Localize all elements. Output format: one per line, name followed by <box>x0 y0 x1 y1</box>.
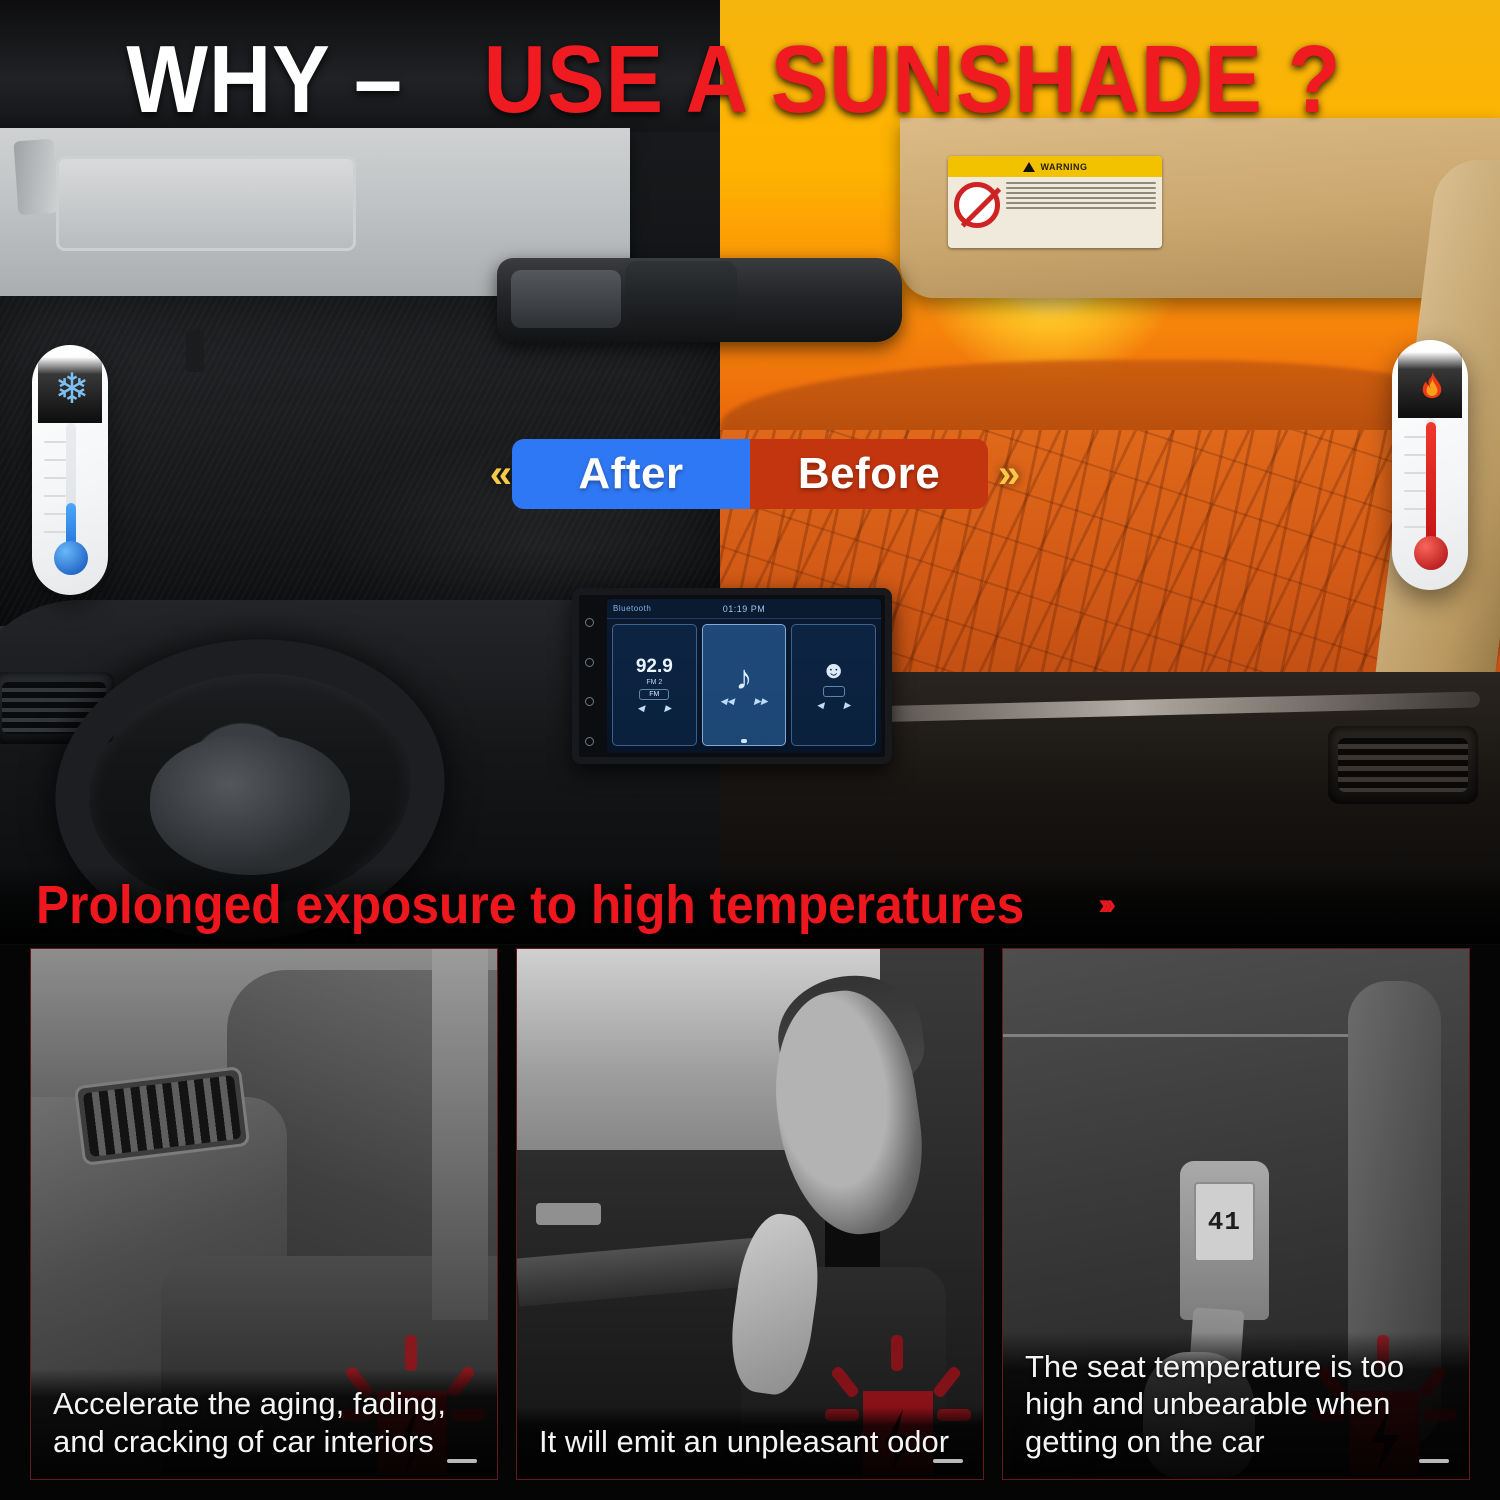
title-white-part: WHY – <box>126 32 403 128</box>
rearview-mirror <box>497 258 902 342</box>
steering-wheel-hub <box>150 735 350 875</box>
rearview-mirror-glass <box>511 270 621 328</box>
clock: 01:19 PM <box>723 604 766 614</box>
radio-prev-icon[interactable]: ◀ <box>637 703 644 714</box>
person-icon: ☻ <box>821 659 846 683</box>
panel-interior-aging: Accelerate the aging, fading, and cracki… <box>30 948 498 1480</box>
snowflake-icon: ❄ <box>38 357 102 423</box>
caption-dash <box>447 1459 477 1463</box>
radio-band: FM 2 <box>646 679 662 686</box>
sun-visor-tan: WARNING <box>900 118 1500 298</box>
phone-chip[interactable] <box>823 686 845 697</box>
power-button-icon[interactable] <box>585 618 594 627</box>
radio-preset-chip[interactable]: FM <box>639 689 669 700</box>
music-note-icon: ♪ <box>736 663 753 694</box>
subheadline: Prolonged exposure to high temperatures … <box>0 866 1500 944</box>
infotainment-cards: 92.9 FM 2 FM ◀ ▶ ♪ ◀◀ ▶▶ <box>607 619 881 751</box>
air-vent-right <box>1328 726 1478 804</box>
radio-frequency: 92.9 <box>636 657 673 676</box>
settings-button-icon[interactable] <box>585 737 594 746</box>
media-forward-icon[interactable]: ▶▶ <box>754 696 768 707</box>
warning-triangle-icon <box>1023 162 1035 172</box>
title-red-part: USE A SUNSHADE ? <box>484 32 1342 128</box>
after-badge[interactable]: After <box>512 439 750 509</box>
radio-card[interactable]: 92.9 FM 2 FM ◀ ▶ <box>612 624 697 746</box>
thermometer-bulb-hot <box>1414 536 1448 570</box>
panel-caption: The seat temperature is too high and unb… <box>1003 1332 1469 1479</box>
benefit-panels: Accelerate the aging, fading, and cracki… <box>0 948 1500 1500</box>
warning-body <box>948 177 1162 233</box>
warning-band: WARNING <box>948 156 1162 177</box>
caption-text: The seat temperature is too high and unb… <box>1025 1348 1451 1461</box>
panel-seat-temperature: 41 The seat temperature is too high and … <box>1002 948 1470 1480</box>
phone-next-icon[interactable]: ▶ <box>844 700 851 711</box>
warning-title: WARNING <box>1041 162 1088 172</box>
thermometer-bulb-cold <box>54 541 88 575</box>
volume-button-icon[interactable] <box>585 697 594 706</box>
home-button-icon[interactable] <box>585 658 594 667</box>
visor-mirror <box>56 156 356 251</box>
caption-text: Accelerate the aging, fading, and cracki… <box>53 1385 479 1461</box>
visor-clip <box>13 139 58 216</box>
rearview-mirror-stem <box>186 330 204 372</box>
caption-dash <box>933 1459 963 1463</box>
phone-prev-icon[interactable]: ◀ <box>817 700 824 711</box>
panel-unpleasant-odor: It will emit an unpleasant odor <box>516 948 984 1480</box>
before-after-hero: WARNING <box>0 0 1500 945</box>
phone-controls[interactable]: ◀ ▶ <box>817 700 851 711</box>
flame-icon <box>1398 352 1462 418</box>
subheadline-arrows-icon: ››› <box>1098 888 1110 922</box>
no-child-seat-icon <box>954 182 1000 228</box>
thermometer-lcd: 41 <box>1194 1182 1255 1262</box>
caption-text: It will emit an unpleasant odor <box>539 1423 965 1461</box>
bluetooth-status: Bluetooth <box>613 604 651 613</box>
infotainment-status-bar: Bluetooth 01:19 PM <box>607 599 881 619</box>
right-chevron-icon: » <box>998 454 1010 494</box>
infotainment-screen[interactable]: Bluetooth 01:19 PM 92.9 FM 2 FM ◀ ▶ ♪ ◀◀ <box>572 588 892 764</box>
subheadline-text: Prolonged exposure to high temperatures <box>36 878 1024 932</box>
panel-caption: It will emit an unpleasant odor <box>517 1407 983 1479</box>
media-card[interactable]: ♪ ◀◀ ▶▶ <box>702 624 787 746</box>
warning-text-lines <box>1006 182 1156 228</box>
radio-next-icon[interactable]: ▶ <box>664 703 671 714</box>
page-indicator-dot <box>741 739 747 743</box>
panel-caption: Accelerate the aging, fading, and cracki… <box>31 1369 497 1479</box>
phone-card[interactable]: ☻ ◀ ▶ <box>791 624 876 746</box>
media-rewind-icon[interactable]: ◀◀ <box>720 696 734 707</box>
caption-dash <box>1419 1459 1449 1463</box>
visor-warning-label: WARNING <box>948 156 1162 248</box>
infotainment-display[interactable]: Bluetooth 01:19 PM 92.9 FM 2 FM ◀ ▶ ♪ ◀◀ <box>607 599 881 753</box>
before-badge[interactable]: Before <box>750 439 988 509</box>
media-controls[interactable]: ◀◀ ▶▶ <box>720 696 768 707</box>
before-after-badges: « After Before » <box>0 432 1500 516</box>
thermometer-reading: 41 <box>1208 1207 1241 1237</box>
rearview-camera-pod <box>625 261 737 323</box>
page-title: WHY – USE A SUNSHADE ? <box>0 28 1500 132</box>
infotainment-side-buttons[interactable] <box>576 603 602 761</box>
radio-seek-controls[interactable]: ◀ ▶ <box>637 703 671 714</box>
left-chevron-icon: « <box>490 454 502 494</box>
